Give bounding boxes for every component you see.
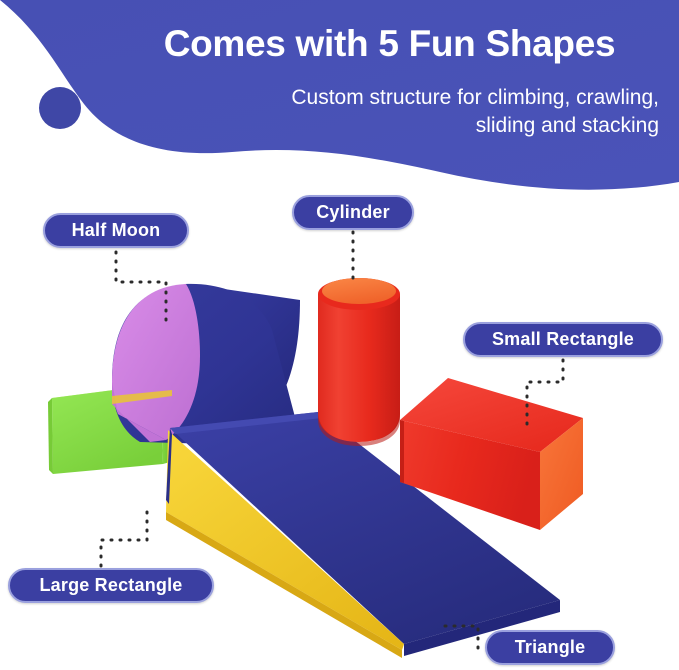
label-badge-large-rectangle[interactable]: Large Rectangle [8, 568, 214, 603]
decor-dot [39, 87, 81, 129]
infographic-canvas: Comes with 5 Fun Shapes Custom structure… [0, 0, 679, 670]
page-subtitle: Custom structure for climbing, crawling,… [170, 84, 659, 140]
page-subtitle-line-2: sliding and stacking [170, 112, 659, 140]
shape-cylinder [318, 278, 400, 446]
connector-large-rectangle [101, 505, 147, 566]
label-badge-half-moon[interactable]: Half Moon [43, 213, 189, 248]
label-badge-triangle[interactable]: Triangle [485, 630, 615, 665]
label-badge-small-rectangle[interactable]: Small Rectangle [463, 322, 663, 357]
page-subtitle-line-1: Custom structure for climbing, crawling, [170, 84, 659, 112]
label-badge-cylinder[interactable]: Cylinder [292, 195, 414, 230]
page-title: Comes with 5 Fun Shapes [120, 21, 659, 67]
